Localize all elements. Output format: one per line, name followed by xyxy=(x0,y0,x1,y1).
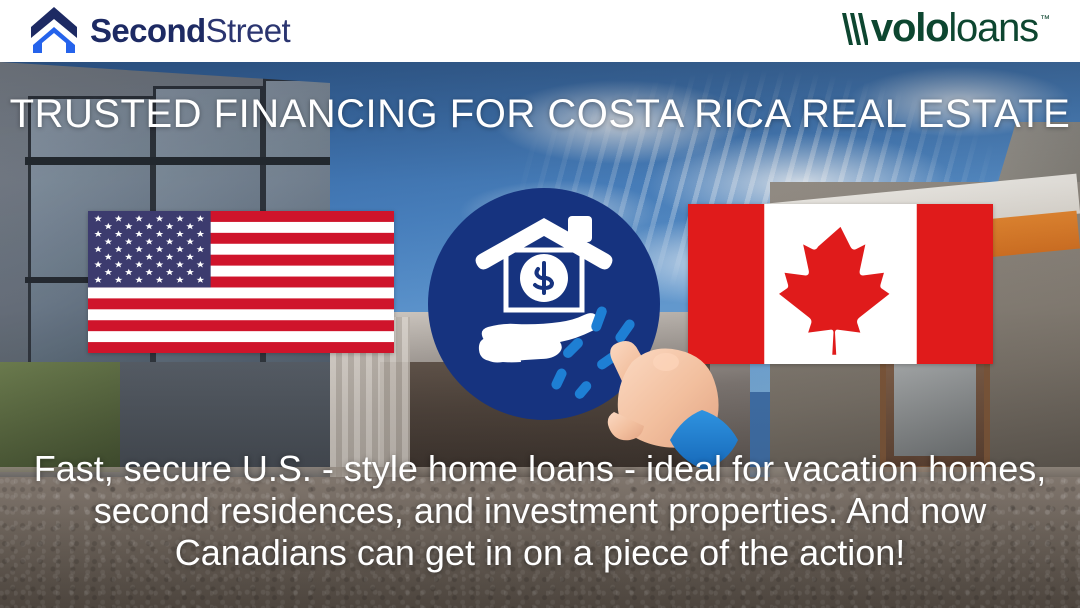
logo-word-street: Street xyxy=(206,12,290,49)
volo-loans-wordmark: vololoans xyxy=(871,8,1038,48)
logo-bar: SecondStreet vololoans ™ xyxy=(0,0,1080,62)
trademark-symbol: ™ xyxy=(1040,14,1050,25)
promotional-banner: TRUSTED FINANCING FOR COSTA RICA REAL ES… xyxy=(0,0,1080,608)
subtext-line-1: Fast, secure U.S. - style home loans - i… xyxy=(0,448,1080,490)
headline-text: TRUSTED FINANCING FOR COSTA RICA REAL ES… xyxy=(0,92,1080,137)
subtext-block: Fast, secure U.S. - style home loans - i… xyxy=(0,448,1080,574)
logo-word-loans: loans xyxy=(948,6,1038,50)
second-street-logo[interactable]: SecondStreet xyxy=(28,5,290,55)
volo-loans-logo[interactable]: vololoans ™ xyxy=(842,8,1050,48)
second-street-chevron-house-icon xyxy=(28,5,80,55)
subtext-line-3: Canadians can get in on a piece of the a… xyxy=(0,532,1080,574)
subtext-line-2: second residences, and investment proper… xyxy=(0,490,1080,532)
united-states-flag xyxy=(88,211,394,353)
logo-word-volo: volo xyxy=(871,6,948,50)
logo-word-second: Second xyxy=(90,12,206,49)
second-street-wordmark: SecondStreet xyxy=(90,14,290,47)
volo-stripes-icon xyxy=(842,13,868,47)
